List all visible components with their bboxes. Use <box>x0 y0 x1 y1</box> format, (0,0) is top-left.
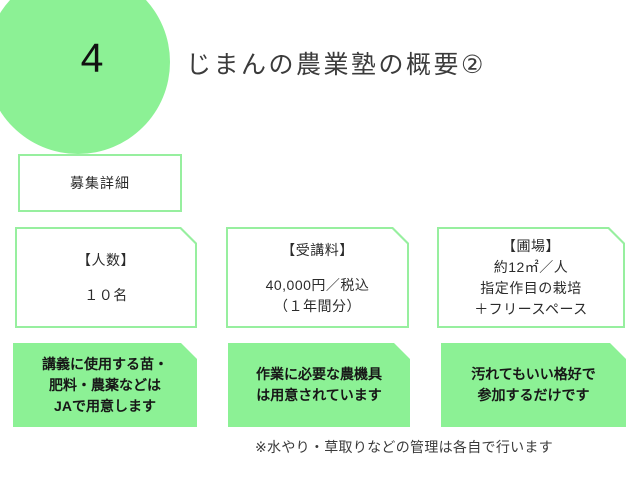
info-card-fee: 【受講料】 40,000円／税込 （１年間分） <box>226 227 409 328</box>
section-label-box: 募集詳細 <box>18 154 182 212</box>
note-equipment-line-2: は用意されています <box>256 385 382 406</box>
note-supplies-line-2: 肥料・農薬などは <box>42 375 168 396</box>
info-card-field-inner: 【圃場】 約12㎡／人 指定作目の栽培 ＋フリースペース <box>439 229 623 326</box>
note-equipment-line-1: 作業に必要な農機具 <box>256 364 382 385</box>
info-card-people: 【人数】 １０名 <box>15 227 197 328</box>
footnote: ※水やり・草取りなどの管理は各自で行います <box>255 437 553 457</box>
note-clothing: 汚れてもいい格好で 参加するだけです <box>441 343 626 427</box>
info-card-people-line-1: １０名 <box>84 285 128 306</box>
info-card-fee-inner: 【受講料】 40,000円／税込 （１年間分） <box>228 229 407 326</box>
info-card-fee-title: 【受講料】 <box>281 239 354 261</box>
note-clothing-line-1: 汚れてもいい格好で <box>471 364 596 385</box>
info-card-fee-line-1: 40,000円／税込 <box>266 275 370 296</box>
note-clothing-text: 汚れてもいい格好で 参加するだけです <box>471 364 596 406</box>
note-supplies-line-1: 講義に使用する苗・ <box>42 354 168 375</box>
slide-number: 4 <box>0 34 184 82</box>
note-clothing-line-2: 参加するだけです <box>471 385 596 406</box>
info-card-field-line-2: 指定作目の栽培 <box>480 278 582 299</box>
page-title: じまんの農業塾の概要② <box>186 48 486 82</box>
section-label-text: 募集詳細 <box>70 173 130 193</box>
info-card-field: 【圃場】 約12㎡／人 指定作目の栽培 ＋フリースペース <box>437 227 625 328</box>
note-equipment: 作業に必要な農機具 は用意されています <box>228 343 410 427</box>
info-card-people-title: 【人数】 <box>77 249 135 271</box>
note-supplies-text: 講義に使用する苗・ 肥料・農薬などは JAで用意します <box>42 354 168 417</box>
info-card-fee-line-2: （１年間分） <box>274 296 361 317</box>
info-card-field-line-1: 約12㎡／人 <box>494 257 569 278</box>
info-card-people-inner: 【人数】 １０名 <box>17 229 195 326</box>
note-supplies-line-3: JAで用意します <box>42 396 168 417</box>
info-card-field-title: 【圃場】 <box>502 235 560 257</box>
info-card-field-line-3: ＋フリースペース <box>474 299 588 320</box>
slide-canvas: 4 じまんの農業塾の概要② 募集詳細 【人数】 １０名 【受講料】 40,000… <box>0 0 640 480</box>
note-equipment-text: 作業に必要な農機具 は用意されています <box>256 364 382 406</box>
note-supplies: 講義に使用する苗・ 肥料・農薬などは JAで用意します <box>13 343 197 427</box>
